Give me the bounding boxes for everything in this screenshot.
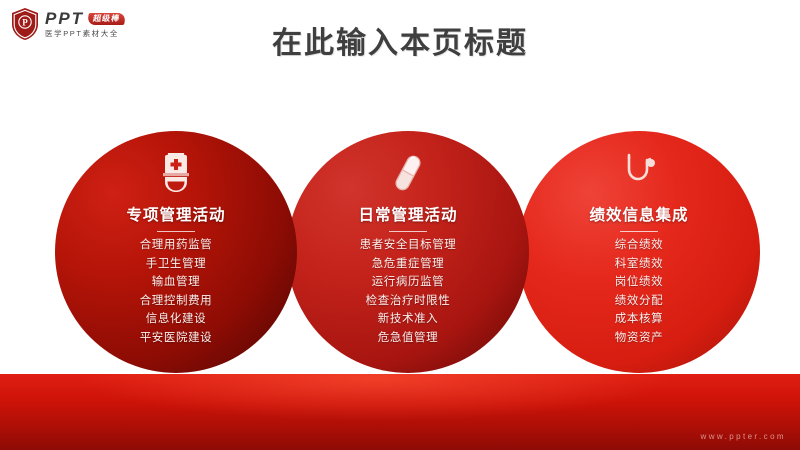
circle-performance-integration[interactable]: 绩效信息集成 综合绩效 科室绩效 岗位绩效 绩效分配 成本核算 物资资产 xyxy=(518,131,760,373)
list-item: 信息化建设 xyxy=(140,310,213,329)
title-divider xyxy=(389,231,427,232)
title-divider xyxy=(620,231,658,232)
pill-capsule-icon xyxy=(388,147,428,195)
list-item: 物资资产 xyxy=(615,329,663,348)
list-item: 合理控制费用 xyxy=(140,292,213,311)
circle-item-list: 患者安全目标管理 急危重症管理 运行病历监管 检查治疗时限性 新技术准入 危急值… xyxy=(360,236,457,348)
list-item: 患者安全目标管理 xyxy=(360,236,457,255)
circle-special-management[interactable]: 专项管理活动 合理用药监管 手卫生管理 输血管理 合理控制费用 信息化建设 平安… xyxy=(55,131,297,373)
list-item: 运行病历监管 xyxy=(360,273,457,292)
list-item: 成本核算 xyxy=(615,310,663,329)
list-item: 危急值管理 xyxy=(360,329,457,348)
circle-item-list: 综合绩效 科室绩效 岗位绩效 绩效分配 成本核算 物资资产 xyxy=(615,236,663,348)
circle-item-list: 合理用药监管 手卫生管理 输血管理 合理控制费用 信息化建设 平安医院建设 xyxy=(140,236,213,348)
circle-title: 绩效信息集成 xyxy=(589,203,688,225)
circle-title: 专项管理活动 xyxy=(126,203,225,225)
list-item: 新技术准入 xyxy=(360,310,457,329)
list-item: 检查治疗时限性 xyxy=(360,292,457,311)
stethoscope-icon xyxy=(617,147,661,195)
list-item: 平安医院建设 xyxy=(140,329,213,348)
list-item: 手卫生管理 xyxy=(140,255,213,274)
list-item: 科室绩效 xyxy=(615,255,663,274)
list-item: 急危重症管理 xyxy=(360,255,457,274)
circle-title: 日常管理活动 xyxy=(358,203,457,225)
list-item: 合理用药监管 xyxy=(140,236,213,255)
list-item: 综合绩效 xyxy=(615,236,663,255)
nurse-cap-icon xyxy=(156,147,196,195)
circle-daily-management[interactable]: 日常管理活动 患者安全目标管理 急危重症管理 运行病历监管 检查治疗时限性 新技… xyxy=(287,131,529,373)
list-item: 绩效分配 xyxy=(615,292,663,311)
title-divider xyxy=(157,231,195,232)
list-item: 输血管理 xyxy=(140,273,213,292)
slide-canvas: P PPT 超级棒 医学PPT素材大全 在此输入本页标题 www.ppter.c… xyxy=(0,0,800,450)
list-item: 岗位绩效 xyxy=(615,273,663,292)
circle-group: 专项管理活动 合理用药监管 手卫生管理 输血管理 合理控制费用 信息化建设 平安… xyxy=(0,0,800,450)
